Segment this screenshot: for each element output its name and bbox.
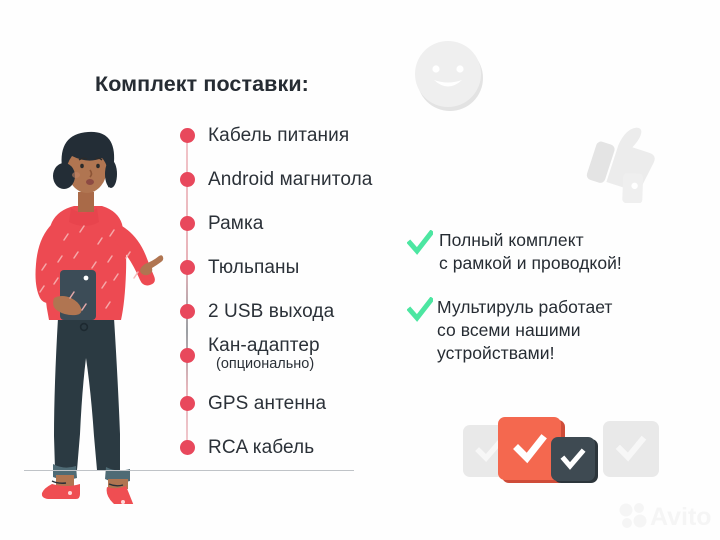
list-item-label: RCA кабель bbox=[208, 437, 314, 459]
checkbox-card bbox=[603, 421, 659, 477]
list-item-sublabel: (опционально) bbox=[216, 356, 314, 372]
list-item-label: Кабель питания bbox=[208, 125, 349, 147]
list-item-label: Android магнитола bbox=[208, 169, 372, 191]
bullet-dot-icon bbox=[180, 216, 195, 231]
ground-line bbox=[24, 470, 354, 471]
checkmark-icon bbox=[615, 433, 647, 465]
checkbox-cards-group bbox=[463, 415, 653, 485]
bullet-dot-icon bbox=[180, 260, 195, 275]
checkmark-icon bbox=[560, 446, 586, 472]
bullet-dot-icon bbox=[180, 348, 195, 363]
bullet-dot-icon bbox=[180, 128, 195, 143]
list-item-label: GPS антенна bbox=[208, 393, 326, 415]
smiley-face-icon bbox=[411, 38, 487, 114]
check-icon bbox=[407, 230, 433, 256]
list-item-label: Рамка bbox=[208, 213, 263, 235]
avito-logo-icon: Avito bbox=[617, 500, 713, 530]
thumbs-up-icon bbox=[584, 117, 662, 203]
woman-pointing-illustration bbox=[14, 112, 182, 504]
promo-card: Комплект поставки: Кабель питания Androi… bbox=[0, 0, 720, 540]
benefit-text: Полный комплект с рамкой и проводкой! bbox=[439, 229, 622, 275]
list-item-label: Тюльпаны bbox=[208, 257, 299, 279]
benefit-text: Мультируль работает со всеми нашими устр… bbox=[437, 296, 613, 365]
benefit-item: Полный комплект с рамкой и проводкой! bbox=[407, 229, 622, 275]
bullet-dot-icon bbox=[180, 172, 195, 187]
checkbox-card bbox=[551, 437, 595, 481]
bullet-dot-icon bbox=[180, 396, 195, 411]
bullet-dot-icon bbox=[180, 304, 195, 319]
bullet-dot-icon bbox=[180, 440, 195, 455]
check-icon bbox=[407, 297, 433, 323]
svg-text:Avito: Avito bbox=[650, 503, 712, 530]
checkmark-icon bbox=[512, 431, 548, 467]
benefit-item: Мультируль работает со всеми нашими устр… bbox=[407, 296, 613, 365]
list-item-label: Кан-адаптер bbox=[208, 335, 320, 357]
page-title: Комплект поставки: bbox=[95, 72, 309, 97]
kit-contents-list: Кабель питания Android магнитола Рамка Т… bbox=[176, 128, 426, 458]
list-item-label: 2 USB выхода bbox=[208, 301, 334, 323]
